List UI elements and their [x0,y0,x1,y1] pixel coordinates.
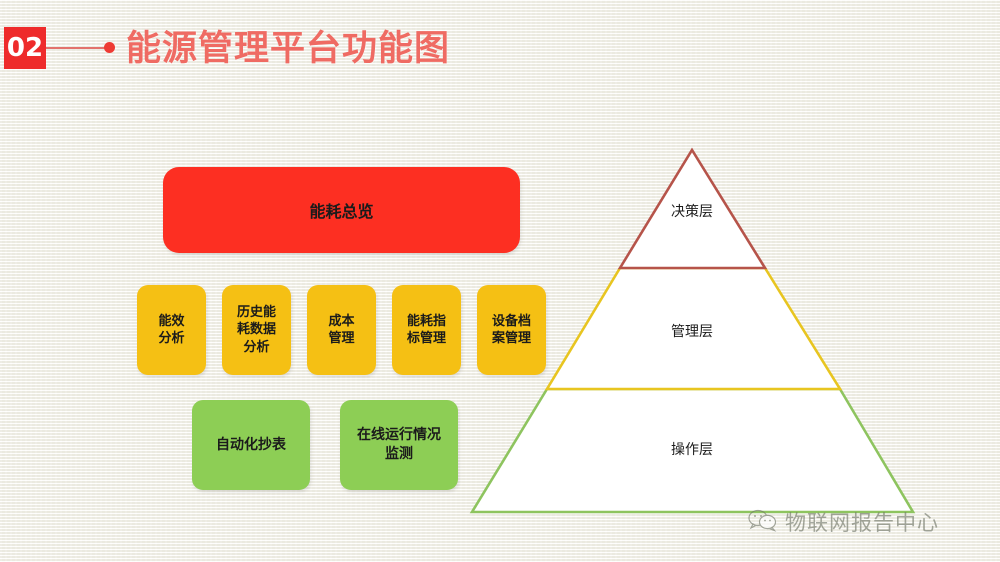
module-box-label: 能耗指 标管理 [407,313,446,347]
watermark: 物联网报告中心 [748,507,939,537]
pyramid-diagram: 决策层 管理层 操作层 [455,135,935,530]
module-box-energy-efficiency-analysis[interactable]: 能效 分析 [137,285,206,375]
header-connector-dot-icon [104,42,115,53]
module-box-label: 成本 管理 [328,313,354,347]
header-connector-line-icon [46,47,108,49]
module-box-label: 能耗总览 [309,198,373,222]
module-box-label: 能效 分析 [158,313,184,347]
pyramid-layer-label-decision: 决策层 [671,201,713,221]
module-box-label: 自动化抄表 [216,436,286,455]
slide-canvas: 02 能源管理平台功能图 能耗总览 能效 分析 历史能 耗数据 分析 成本 管理… [0,0,1000,562]
module-box-label: 历史能 耗数据 分析 [237,304,276,355]
pyramid-layer-label-operation: 操作层 [671,439,713,459]
pyramid-layer-label-management: 管理层 [671,321,713,341]
module-box-energy-indicator-management[interactable]: 能耗指 标管理 [392,285,461,375]
module-box-cost-management[interactable]: 成本 管理 [307,285,376,375]
wechat-icon [748,508,778,536]
module-box-online-operation-monitoring[interactable]: 在线运行情况 监测 [340,400,458,490]
section-number-badge: 02 [4,27,46,69]
page-title: 能源管理平台功能图 [126,20,450,71]
module-box-historical-data-analysis[interactable]: 历史能 耗数据 分析 [222,285,291,375]
module-box-automatic-meter-reading[interactable]: 自动化抄表 [192,400,310,490]
module-box-label: 在线运行情况 监测 [357,426,441,464]
watermark-text: 物联网报告中心 [785,507,939,537]
